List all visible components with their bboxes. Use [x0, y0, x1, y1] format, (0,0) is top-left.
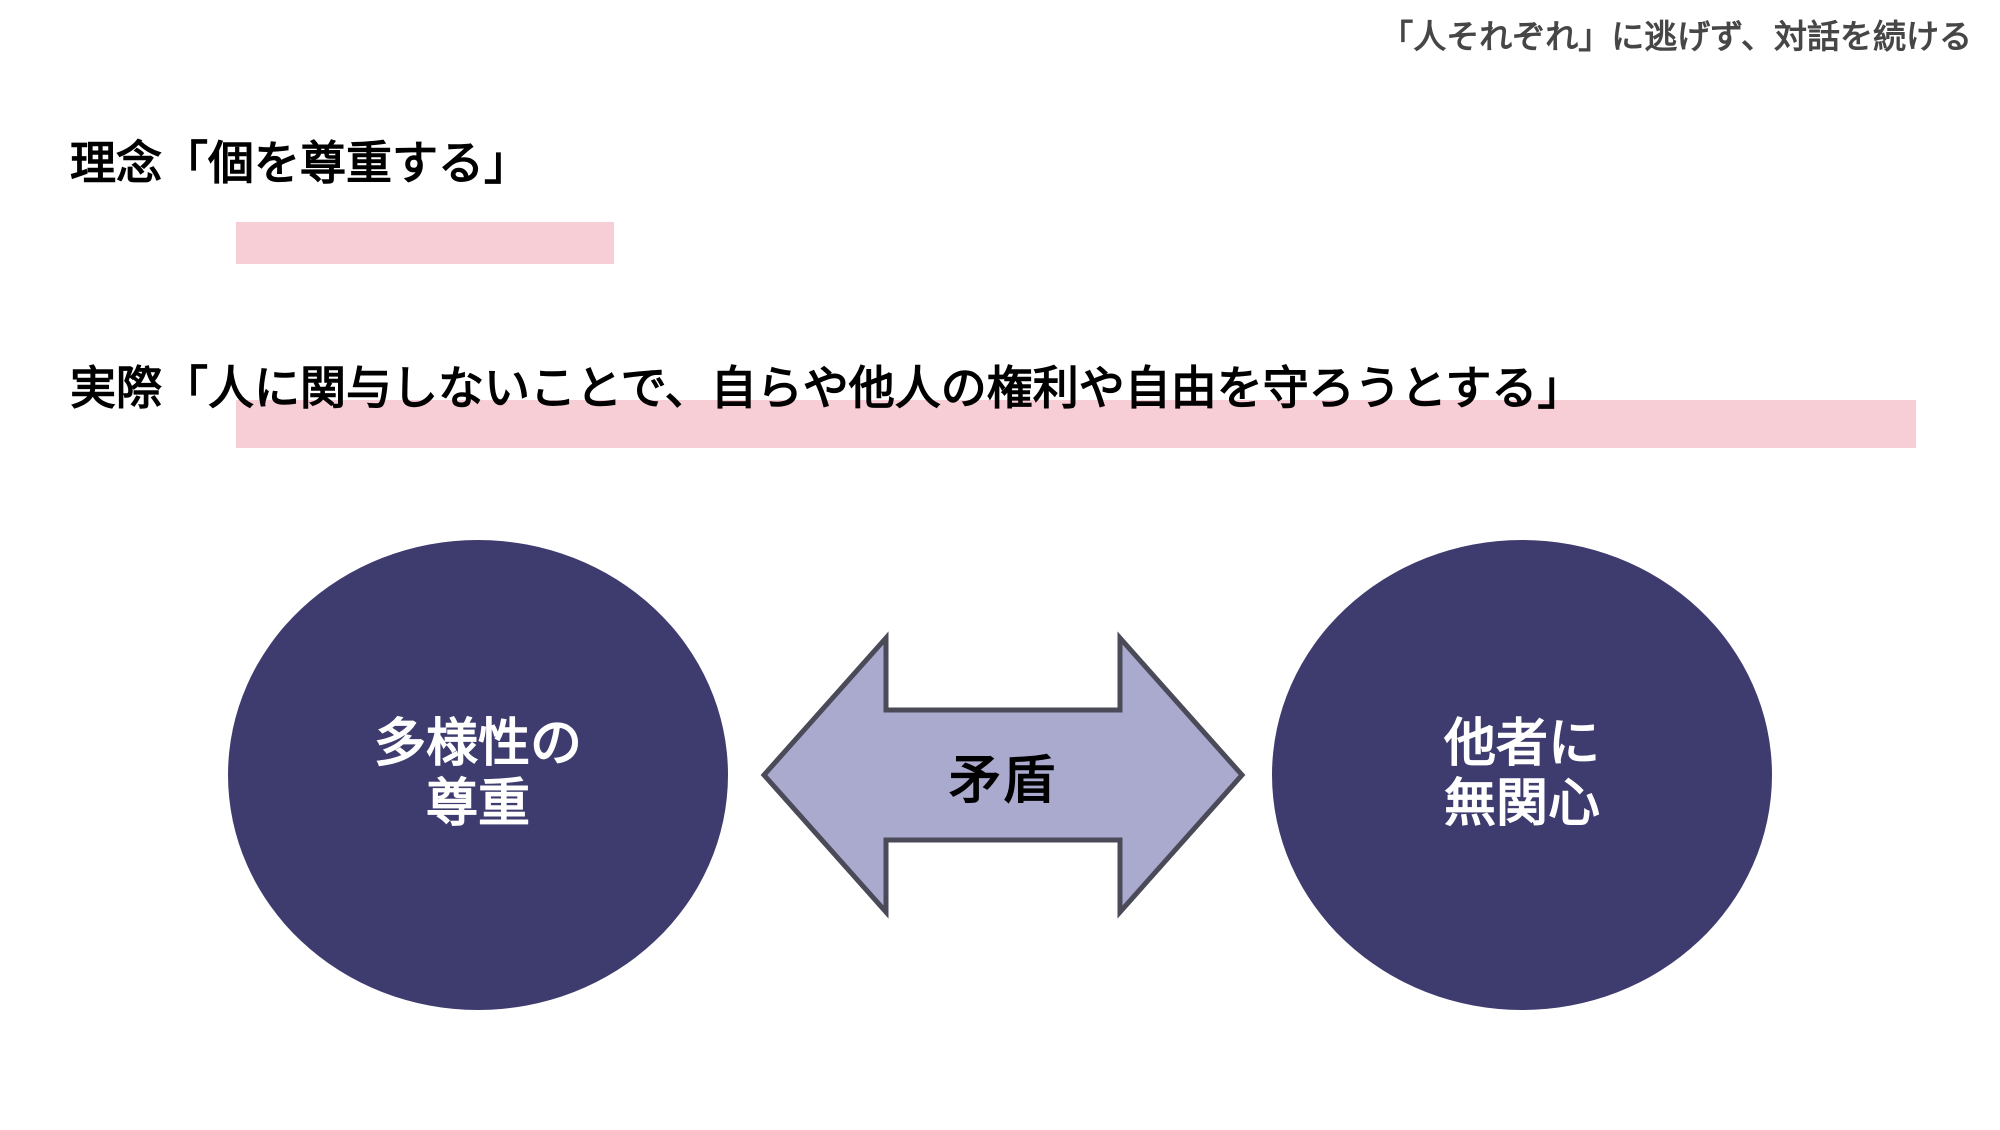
contradiction-diagram: 多様性の 尊重 矛盾 他者に 無関心	[0, 520, 2000, 1130]
double-headed-arrow-icon: 矛盾	[758, 620, 1248, 930]
statement-ideal: 理念「個を尊重する」	[70, 140, 530, 186]
concept-ellipse-diversity: 多様性の 尊重	[228, 540, 728, 1010]
concept-ellipse-indifference-label: 他者に 無関心	[1444, 715, 1600, 835]
slide-header-title: 「人それぞれ」に逃げず、対話を続ける	[1380, 10, 1972, 58]
concept-ellipse-diversity-label: 多様性の 尊重	[374, 715, 582, 835]
arrow-label-contradiction: 矛盾	[758, 620, 1248, 930]
concept-ellipse-indifference: 他者に 無関心	[1272, 540, 1772, 1010]
statement-actual: 実際「人に関与しないことで、自らや他人の権利や自由を守ろうとする」	[70, 365, 1583, 411]
highlight-bar-ideal	[236, 222, 614, 264]
